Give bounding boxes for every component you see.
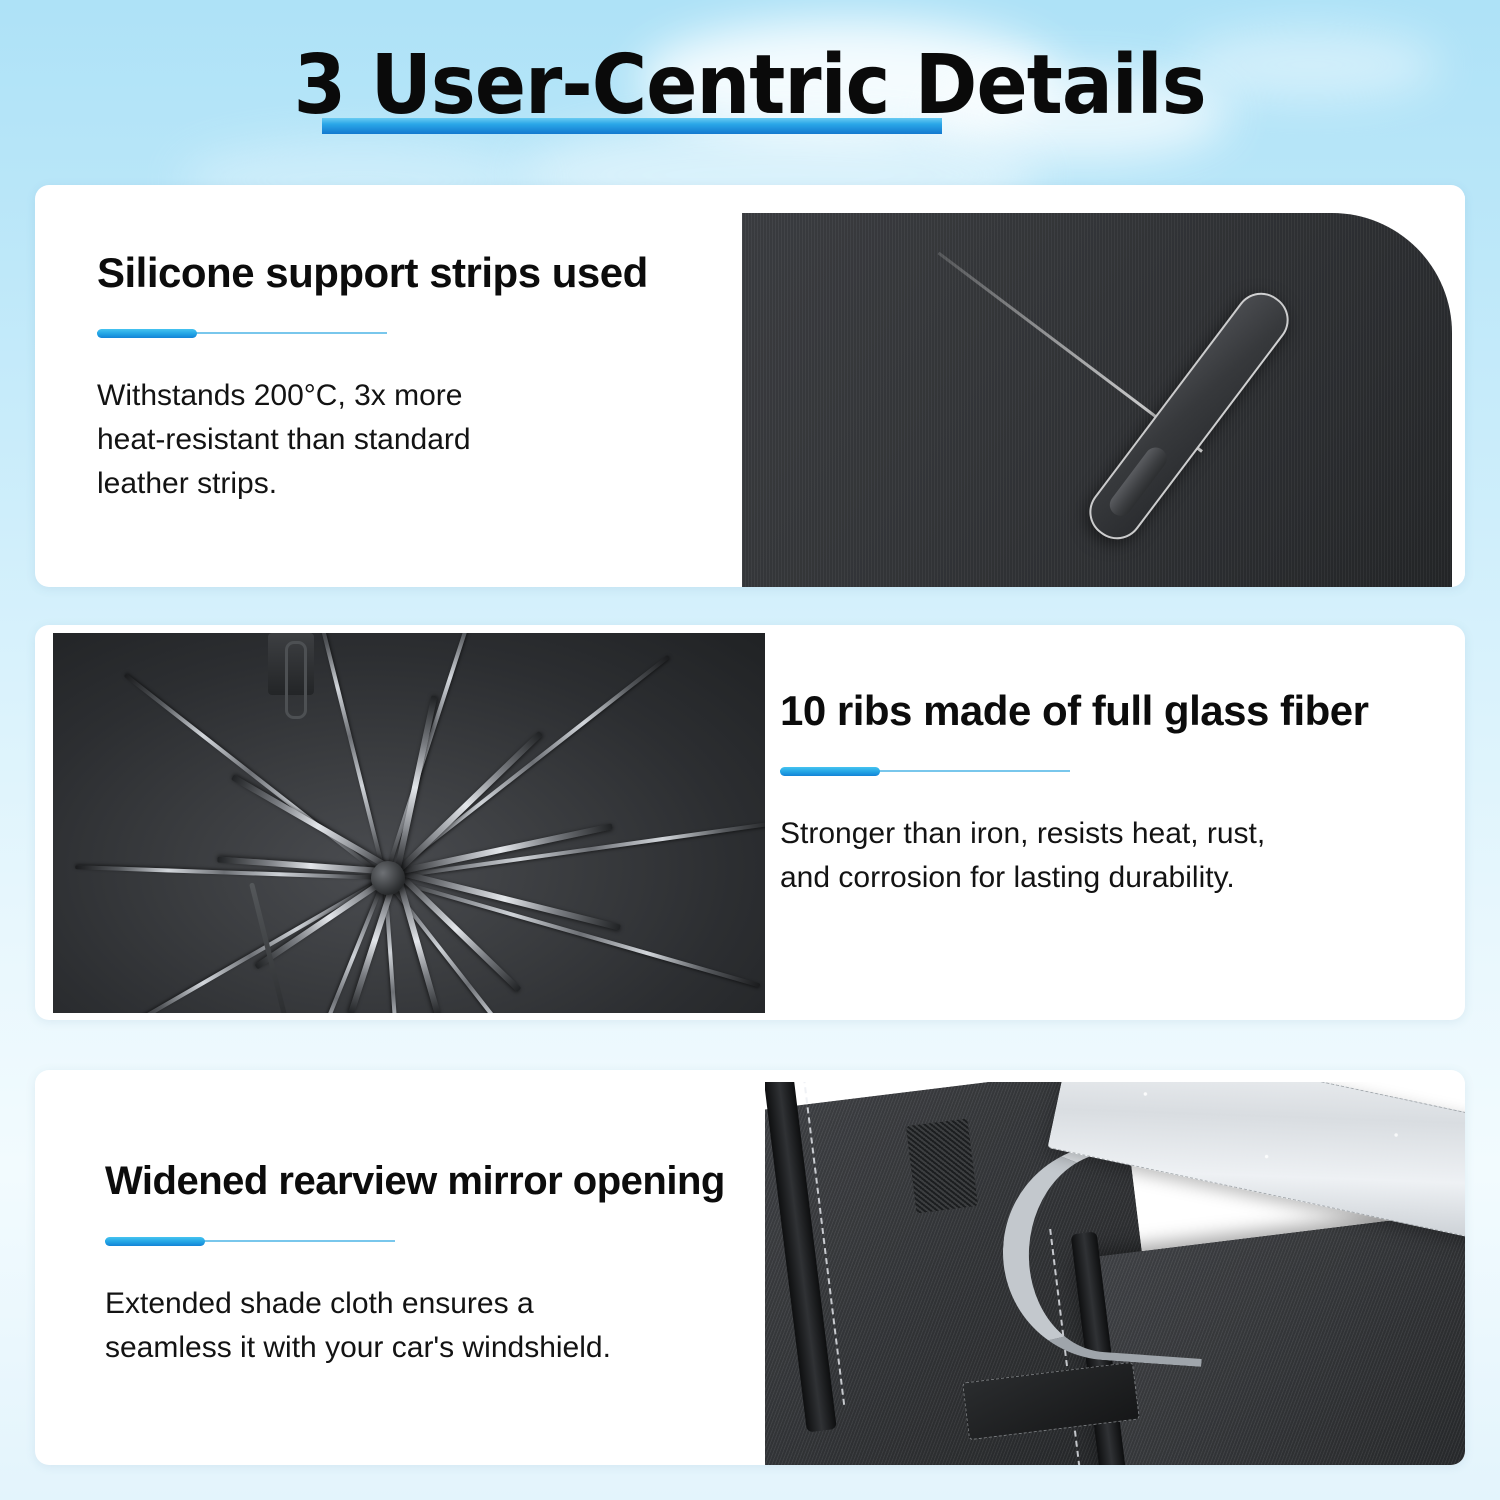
card-headline: Silicone support strips used [97, 247, 737, 299]
card-divider [780, 767, 1070, 776]
card-text-block: 10 ribs made of full glass fiber Stronge… [780, 685, 1450, 900]
card-text-block: Widened rearview mirror opening Extended… [105, 1155, 785, 1370]
card-text-block: Silicone support strips used Withstands … [97, 247, 737, 506]
card-divider [97, 329, 387, 338]
umbrella-stretcher [394, 695, 437, 872]
card-body-text: Withstands 200°C, 3x more heat-resistant… [97, 374, 737, 506]
feature-image-mirror-opening [765, 1082, 1465, 1465]
feature-card-silicone-support-strips: Silicone support strips used Withstands … [35, 185, 1465, 587]
page-header: 3 User-Centric Details [0, 36, 1500, 146]
divider-accent-bar [780, 767, 880, 776]
feature-image-silicone-strip [732, 195, 1465, 587]
umbrella-rib [383, 877, 546, 1013]
card-body-text: Extended shade cloth ensures a seamless … [105, 1282, 785, 1370]
divider-accent-bar [97, 329, 197, 338]
feature-card-glass-fiber-ribs: 10 ribs made of full glass fiber Stronge… [35, 625, 1465, 1020]
umbrella-rib [384, 876, 760, 987]
umbrella-handle-loop [285, 641, 307, 719]
card-divider [105, 1237, 395, 1246]
card-headline: Widened rearview mirror opening [105, 1155, 785, 1207]
umbrella-rib [124, 673, 387, 879]
card-headline: 10 ribs made of full glass fiber [780, 685, 1450, 737]
title-group: 3 User-Centric Details [250, 36, 1249, 136]
page-title: 3 User-Centric Details [290, 36, 1209, 136]
velcro-patch [906, 1119, 978, 1214]
umbrella-hub [371, 861, 405, 895]
divider-accent-bar [105, 1237, 205, 1246]
feature-image-umbrella-ribs [53, 633, 765, 1013]
card-body-text: Stronger than iron, resists heat, rust, … [780, 812, 1450, 900]
feature-card-rearview-mirror-opening: Widened rearview mirror opening Extended… [35, 1070, 1465, 1465]
umbrella-canopy [53, 633, 765, 1013]
